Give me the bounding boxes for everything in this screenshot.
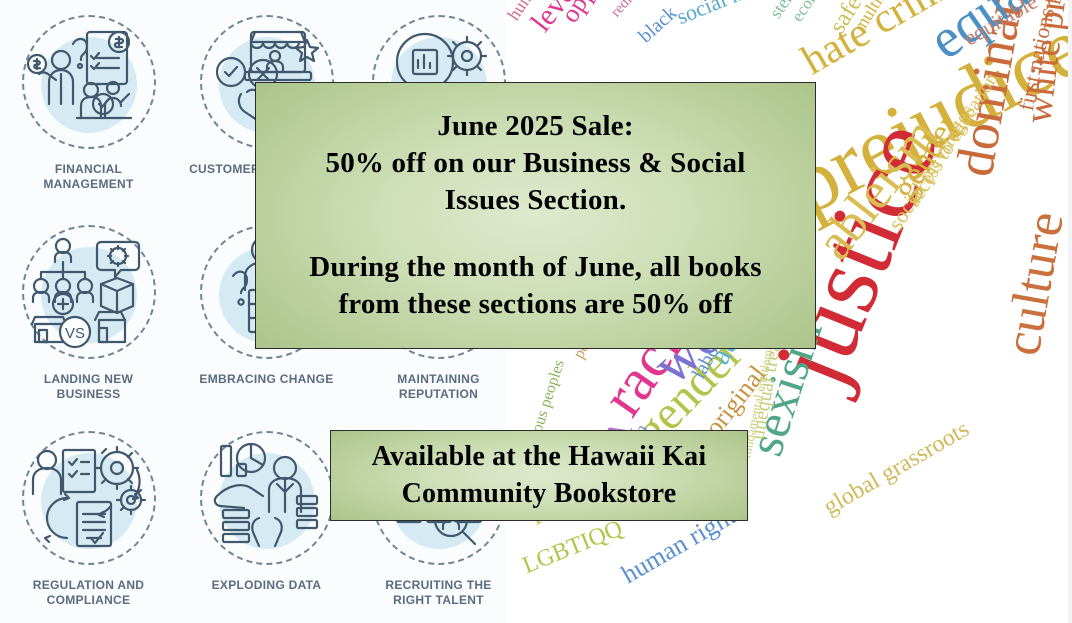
word-cloud-term: black [636, 3, 681, 46]
icon-cell-financial-management: FINANCIALMANAGEMENT [2, 8, 175, 192]
financial-management-icon [14, 8, 164, 156]
sale-detail-line-1: During the month of June, all books [309, 249, 762, 286]
landing-new-business-icon: VS [14, 218, 164, 366]
icon-label: RECRUITING THERIGHT TALENT [352, 578, 525, 608]
icon-label: LANDING NEWBUSINESS [2, 372, 175, 402]
svg-text:VS: VS [64, 325, 84, 342]
store-line-2: Community Bookstore [402, 476, 677, 512]
sale-line-3: Issues Section. [445, 182, 627, 219]
icon-label: EMBRACING CHANGE [180, 372, 353, 387]
icon-cell-exploding-data: EXPLODING DATA [180, 424, 353, 593]
sale-announcement-box: June 2025 Sale: 50% off on our Business … [255, 82, 816, 349]
store-availability-box: Available at the Hawaii Kai Community Bo… [330, 430, 748, 521]
icon-label: REGULATION ANDCOMPLIANCE [2, 578, 175, 608]
icon-cell-landing-new-business: VS LANDING NEWBUSINESS [2, 218, 175, 402]
exploding-data-icon [192, 424, 342, 572]
word-cloud-term: LGBTIQQ [520, 517, 626, 578]
word-cloud-term: global grassroots [820, 418, 973, 519]
sale-line-1: June 2025 Sale: [437, 108, 633, 145]
sale-detail-line-2: from these sections are 50% off [338, 286, 732, 323]
icon-label: FINANCIALMANAGEMENT [2, 162, 175, 192]
store-line-1: Available at the Hawaii Kai [372, 439, 707, 475]
sale-poster: FINANCIALMANAGEMENT [0, 0, 1072, 623]
word-cloud-term: culture [998, 208, 1072, 359]
icon-label: EXPLODING DATA [180, 578, 353, 593]
icon-cell-regulation-and-compliance: REGULATION ANDCOMPLIANCE [2, 424, 175, 608]
regulation-and-compliance-icon [14, 424, 164, 572]
sale-line-2: 50% off on our Business & Social [326, 145, 746, 182]
icon-label: MAINTAININGREPUTATION [352, 372, 525, 402]
